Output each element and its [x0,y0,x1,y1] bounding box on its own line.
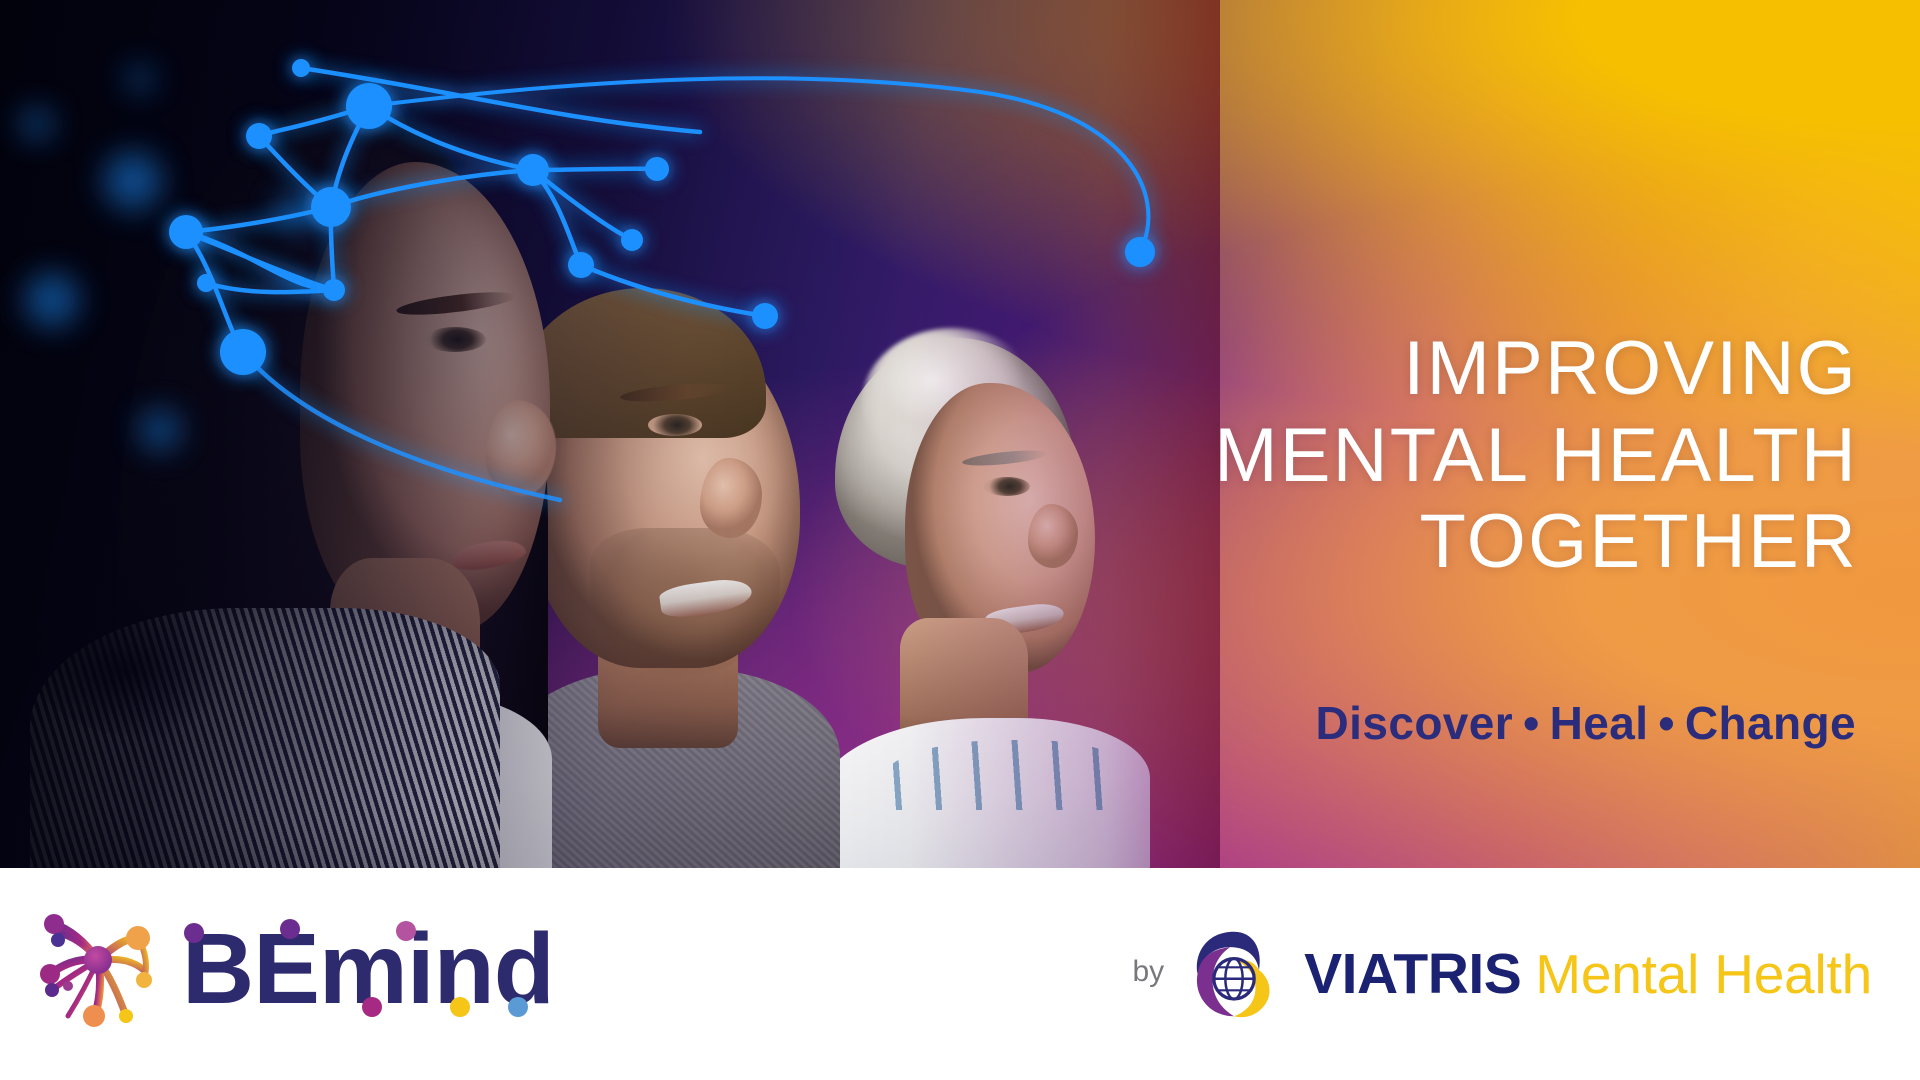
headline-line-2: MENTAL HEALTH [958,413,1858,500]
tagline-separator-2: • [1648,696,1685,750]
viatris-name: VIATRIS [1304,946,1521,1003]
hero-image-area: IMPROVING MENTAL HEALTH TOGETHER Discove… [0,0,1920,868]
bemind-dot-i-top [396,921,416,941]
bemind-logo[interactable]: BEmind [28,904,554,1036]
tagline-word-change: Change [1685,697,1856,749]
bemind-dot-d-bottom [508,997,528,1017]
page-headline: IMPROVING MENTAL HEALTH TOGETHER [958,326,1858,586]
bemind-dot-m-bottom [362,997,382,1017]
bemind-dot-n-bottom [450,997,470,1017]
tagline-separator-1: • [1513,696,1550,750]
viatris-wordmark: VIATRIS Mental Health [1304,946,1872,1003]
bemind-wordmark: BEmind [174,911,554,1029]
tagline-word-heal: Heal [1550,697,1649,749]
icon-node-hub [84,946,112,974]
neural-network-icon [28,904,160,1036]
tagline-word-discover: Discover [1316,697,1514,749]
bemind-dot-e-top [280,919,300,939]
network-bokeh-dots [22,67,314,449]
headline-block: IMPROVING MENTAL HEALTH TOGETHER [958,326,1858,586]
viatris-subtitle: Mental Health [1535,947,1872,1002]
viatris-globe-icon [1186,926,1282,1022]
viatris-logo[interactable]: by VIATRIS Mental Health [1132,926,1872,1022]
tagline: Discover•Heal•Change [1316,696,1856,750]
headline-line-3: TOGETHER [958,499,1858,586]
footer-bar: BEmind by [0,868,1920,1080]
bemind-dot-b-top [184,923,204,943]
by-label: by [1132,957,1164,991]
headline-line-1: IMPROVING [958,326,1858,413]
bemind-hero-banner: IMPROVING MENTAL HEALTH TOGETHER Discove… [0,0,1920,1080]
